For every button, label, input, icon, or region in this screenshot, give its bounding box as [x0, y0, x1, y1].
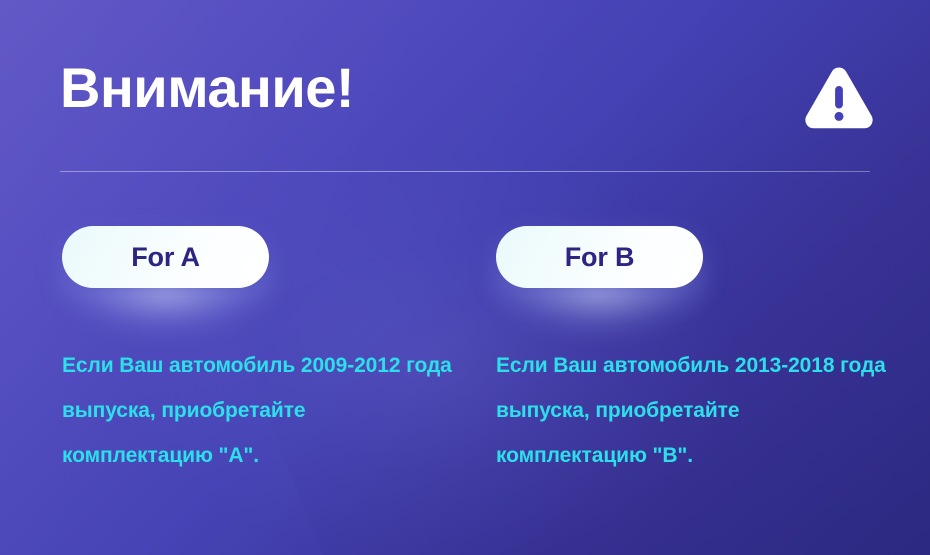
header-divider [60, 171, 870, 172]
warning-triangle-icon [803, 65, 875, 131]
option-b-description: Если Ваш автомобиль 2013-2018 года выпус… [496, 343, 891, 478]
option-column-b: For B Если Ваш автомобиль 2013-2018 года… [496, 210, 896, 288]
pill-wrap-b: For B [496, 210, 703, 288]
for-b-button[interactable]: For B [496, 226, 703, 288]
for-a-button-label: For A [131, 244, 200, 271]
for-a-button[interactable]: For A [62, 226, 269, 288]
banner-header: Внимание! [0, 0, 930, 172]
option-a-description: Если Ваш автомобиль 2009-2012 года выпус… [62, 343, 457, 478]
option-column-a: For A Если Ваш автомобиль 2009-2012 года… [62, 210, 462, 288]
for-b-button-label: For B [565, 244, 635, 271]
page-title: Внимание! [60, 57, 354, 119]
pill-wrap-a: For A [62, 210, 269, 288]
warning-banner: Внимание! For A Если Ваш автомобиль 2009… [0, 0, 930, 555]
